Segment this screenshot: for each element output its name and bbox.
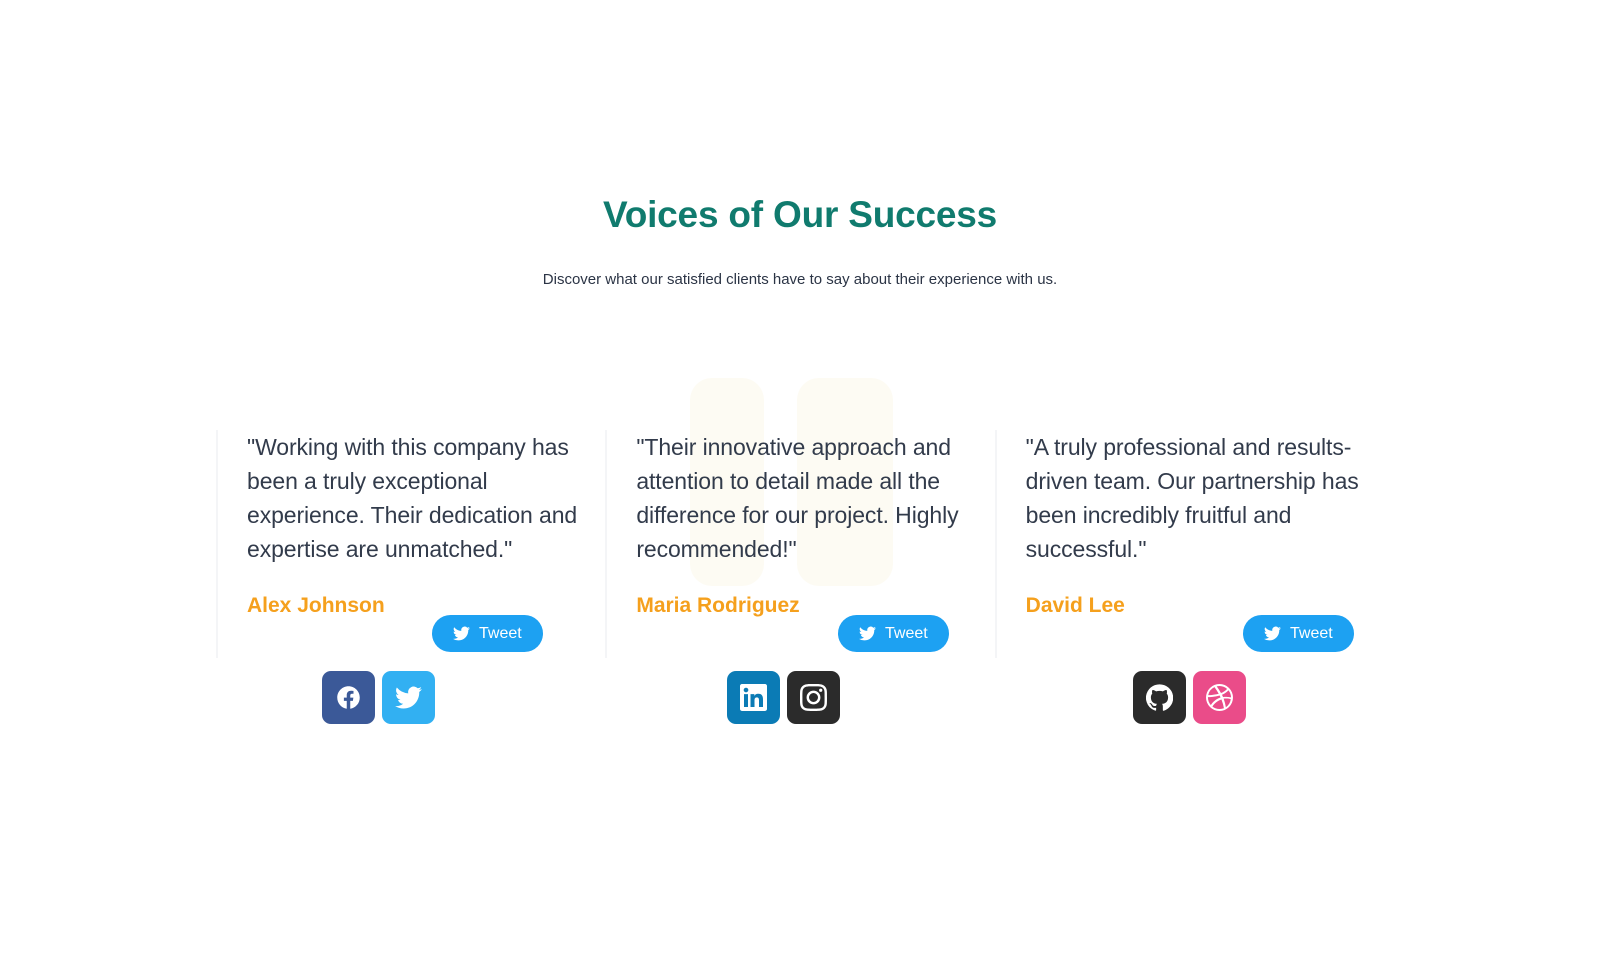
testimonial-author: Maria Rodriguez bbox=[636, 595, 799, 616]
tweet-button[interactable]: Tweet bbox=[1243, 615, 1354, 652]
testimonial-author: Alex Johnson bbox=[247, 595, 385, 616]
github-icon bbox=[1146, 684, 1173, 711]
testimonial-quote: "A truly professional and results-driven… bbox=[1026, 430, 1374, 566]
facebook-icon bbox=[335, 684, 362, 711]
social-link-instagram[interactable] bbox=[787, 671, 840, 724]
social-link-twitter[interactable] bbox=[382, 671, 435, 724]
social-link-facebook[interactable] bbox=[322, 671, 375, 724]
testimonial-footer: Alex Johnson bbox=[247, 585, 595, 625]
page-title: Voices of Our Success bbox=[0, 192, 1600, 238]
twitter-bird-icon bbox=[1264, 625, 1281, 642]
instagram-icon bbox=[800, 684, 827, 711]
testimonial-quote: "Their innovative approach and attention… bbox=[636, 430, 984, 566]
twitter-icon bbox=[395, 684, 422, 711]
social-links-row bbox=[322, 671, 435, 724]
testimonial-quote: "Working with this company has been a tr… bbox=[247, 430, 595, 566]
twitter-bird-icon bbox=[453, 625, 470, 642]
page-subtitle: Discover what our satisfied clients have… bbox=[0, 269, 1600, 292]
social-links-row bbox=[727, 671, 840, 724]
testimonial-author: David Lee bbox=[1026, 595, 1125, 616]
testimonials-page: Voices of Our Success Discover what our … bbox=[0, 0, 1600, 978]
linkedin-icon bbox=[740, 684, 767, 711]
section-heading: Voices of Our Success Discover what our … bbox=[0, 192, 1600, 292]
social-link-dribbble[interactable] bbox=[1193, 671, 1246, 724]
twitter-bird-icon bbox=[859, 625, 876, 642]
testimonial-list: "Working with this company has been a tr… bbox=[216, 430, 1384, 658]
tweet-button-label: Tweet bbox=[479, 625, 522, 643]
social-link-linkedin[interactable] bbox=[727, 671, 780, 724]
social-link-github[interactable] bbox=[1133, 671, 1186, 724]
dribbble-icon bbox=[1206, 684, 1233, 711]
social-links-row bbox=[1133, 671, 1246, 724]
tweet-button-label: Tweet bbox=[1290, 625, 1333, 643]
testimonial-card: "Working with this company has been a tr… bbox=[216, 430, 605, 658]
tweet-button[interactable]: Tweet bbox=[432, 615, 543, 652]
tweet-button-label: Tweet bbox=[885, 625, 928, 643]
tweet-button[interactable]: Tweet bbox=[838, 615, 949, 652]
